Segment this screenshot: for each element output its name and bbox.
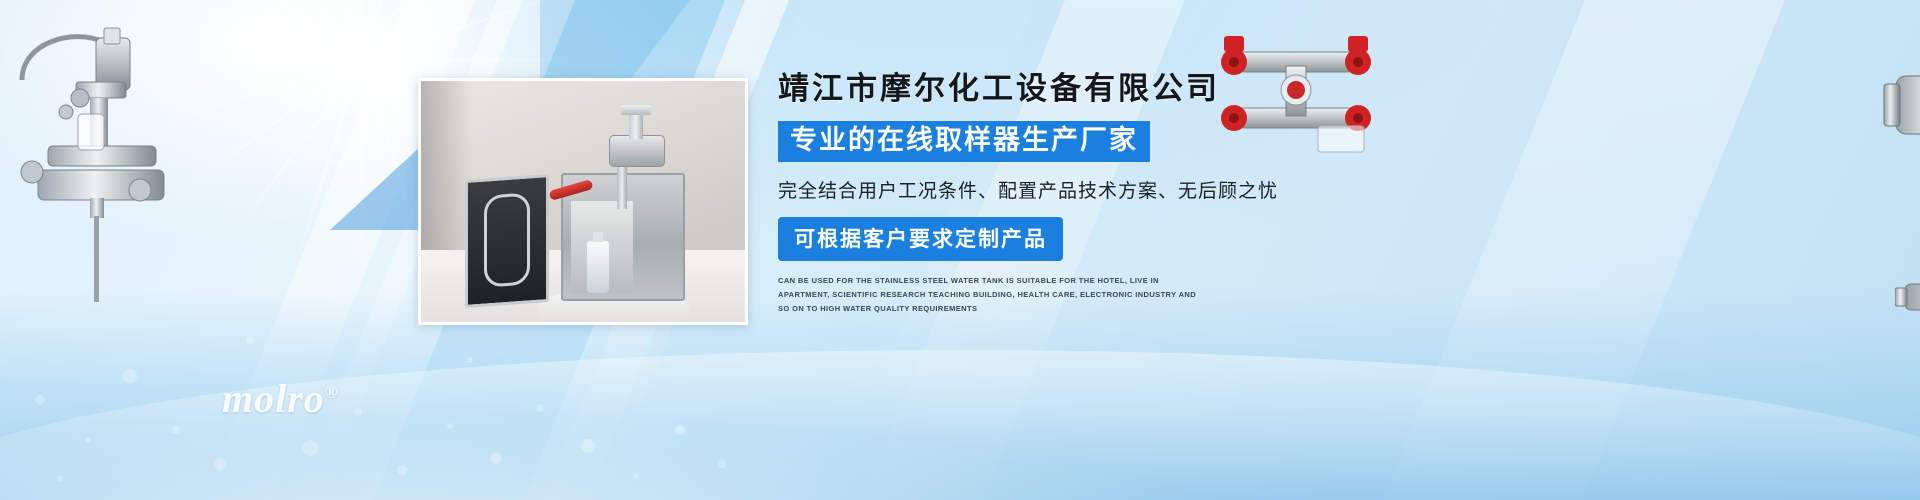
custom-product-pill: 可根据客户要求定制产品 — [778, 217, 1063, 261]
banner-subline: 完全结合用户工况条件、配置产品技术方案、无后顾之忧 — [778, 176, 1418, 203]
right-bottom-equipment-illustration — [1895, 240, 1920, 430]
watermark-logo: molro® — [222, 375, 339, 422]
left-equipment-illustration — [8, 20, 198, 310]
watermark-text: molro — [222, 376, 325, 421]
product-photo — [418, 78, 748, 325]
company-title: 靖江市摩尔化工设备有限公司 — [778, 70, 1418, 109]
promo-banner: 靖江市摩尔化工设备有限公司 专业的在线取样器生产厂家 完全结合用户工况条件、配置… — [0, 0, 1920, 500]
banner-copy: 靖江市摩尔化工设备有限公司 专业的在线取样器生产厂家 完全结合用户工况条件、配置… — [778, 70, 1418, 316]
registered-mark-icon: ® — [325, 383, 339, 402]
english-caption: CAN BE USED FOR THE STAINLESS STEEL WATE… — [778, 274, 1198, 316]
headline-highlight: 专业的在线取样器生产厂家 — [778, 121, 1150, 163]
right-side-equipment-illustration — [1880, 28, 1920, 198]
